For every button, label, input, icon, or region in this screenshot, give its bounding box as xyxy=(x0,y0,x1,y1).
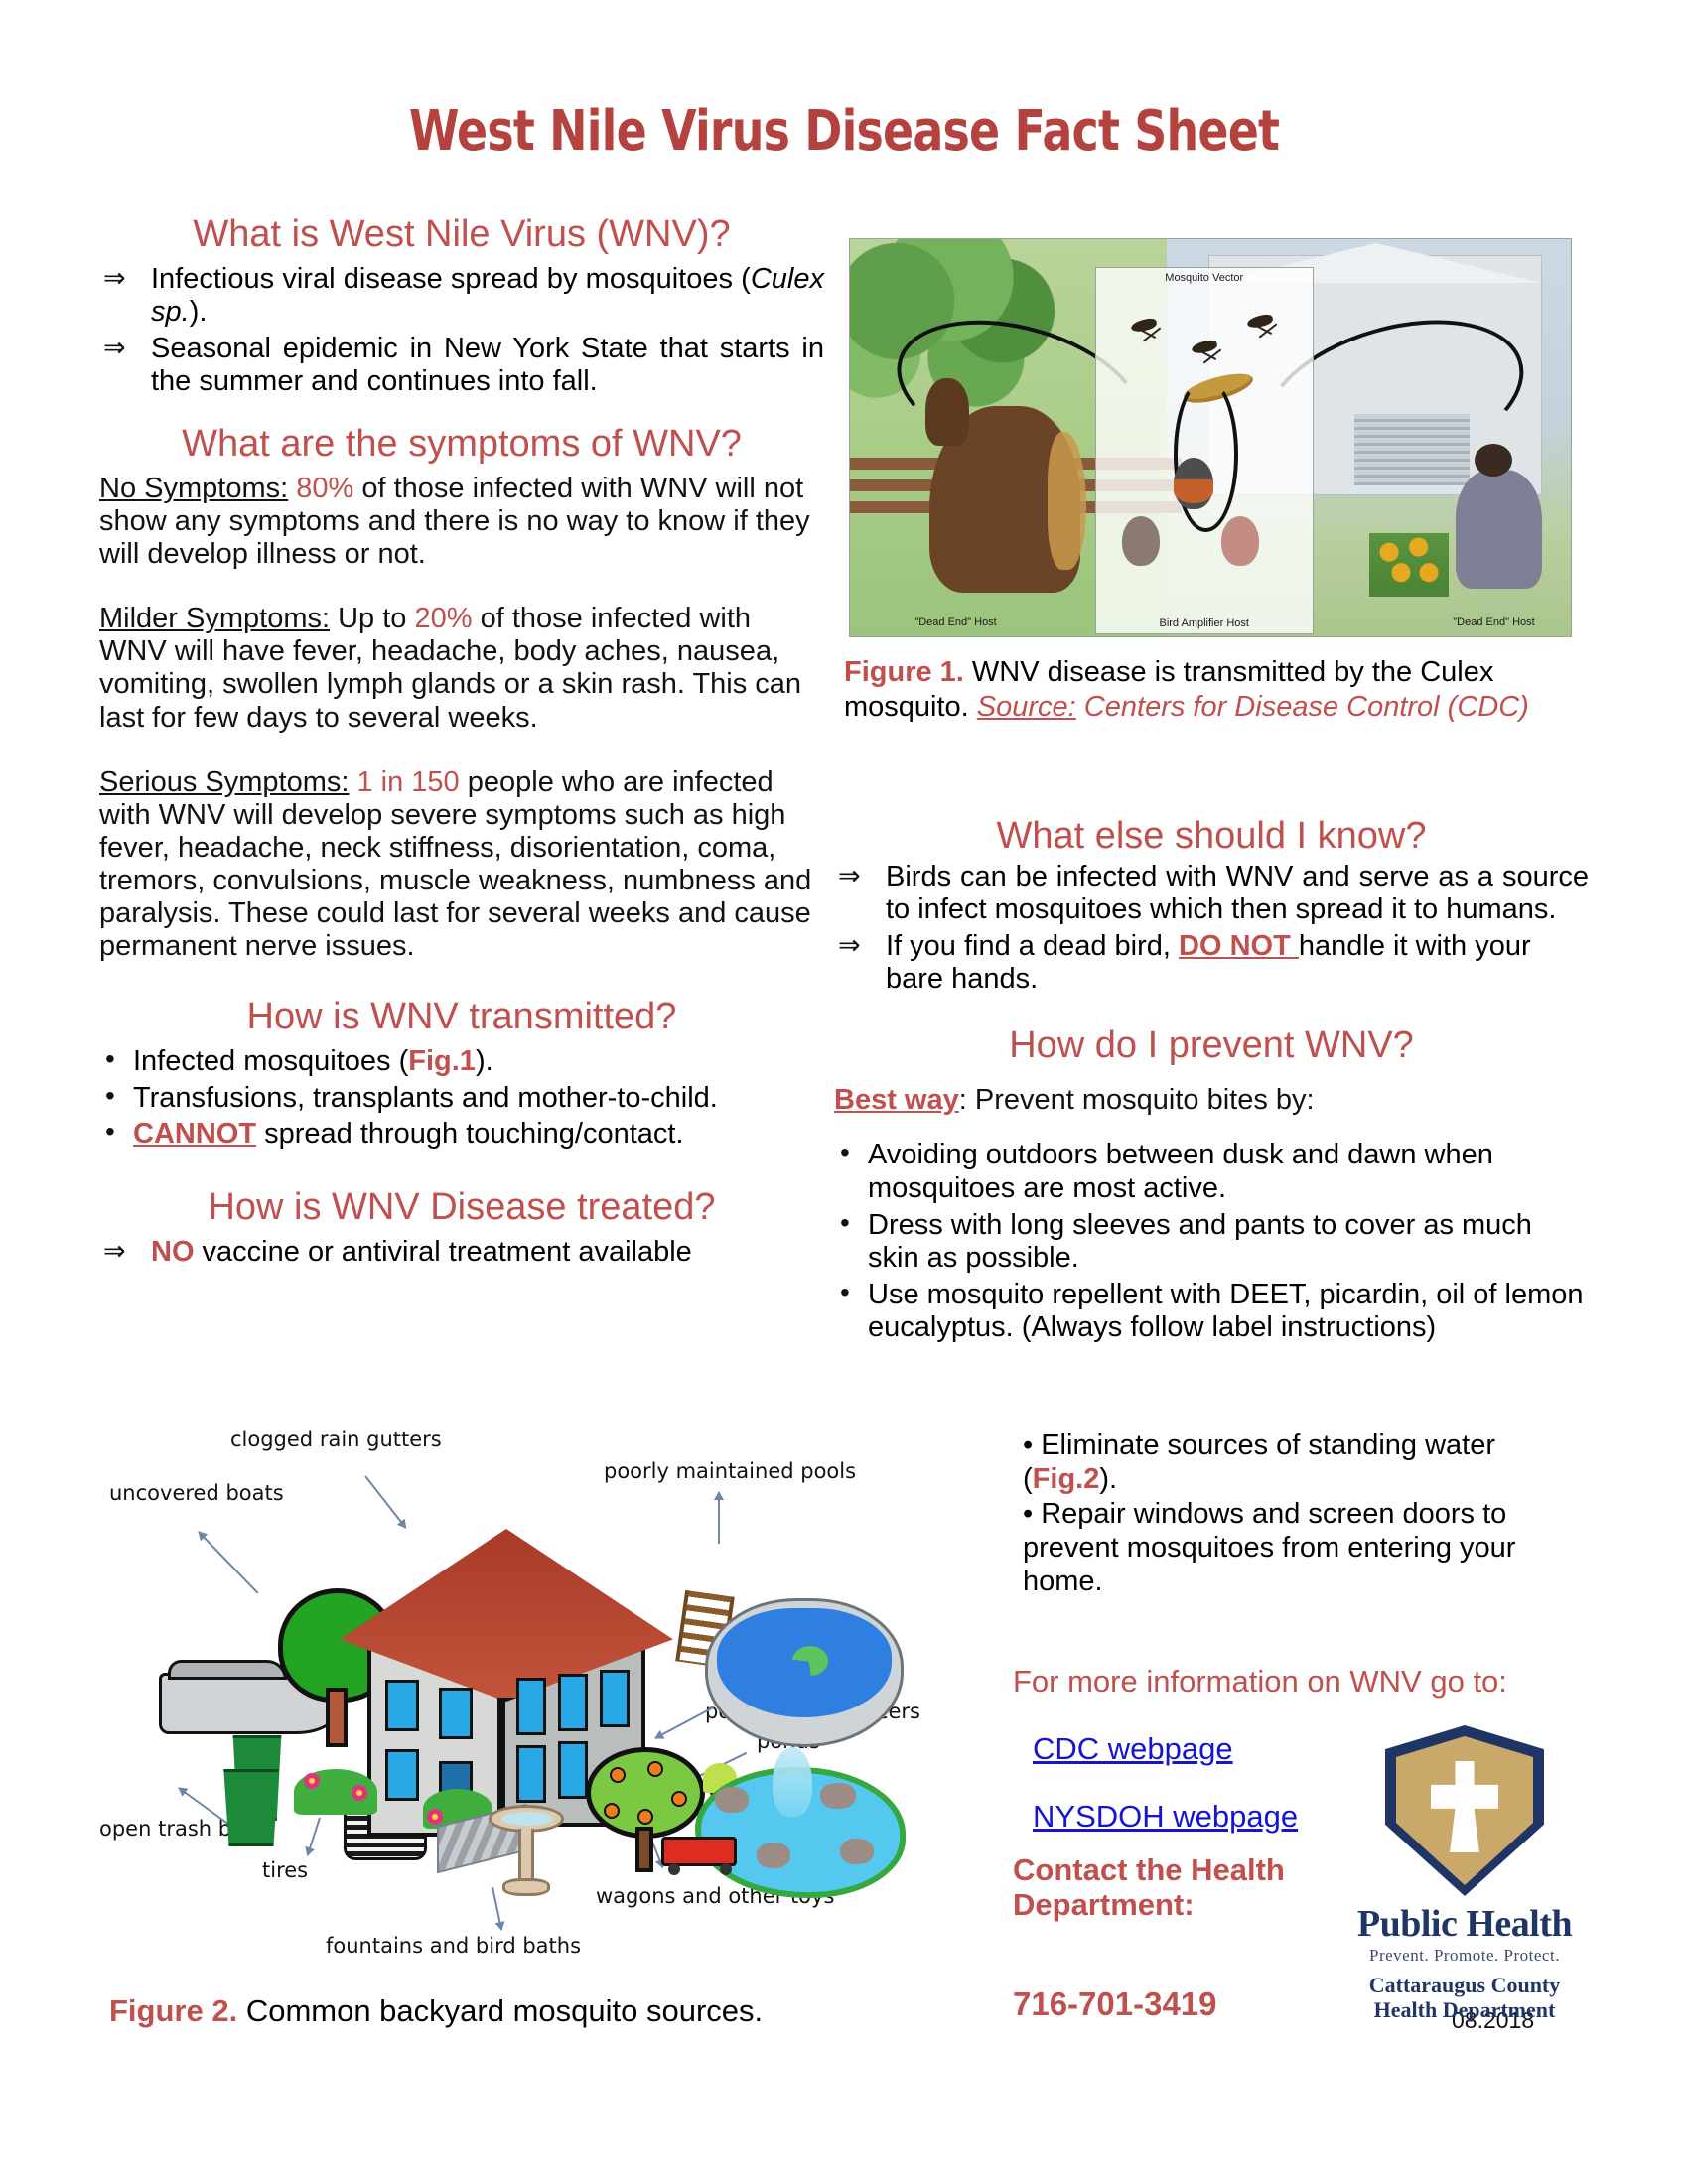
list-item: • Eliminate sources of standing water (F… xyxy=(1023,1430,1579,1496)
bullet-text: Infected mosquitoes ( xyxy=(133,1045,408,1077)
fruit-icon xyxy=(637,1809,653,1825)
figure-1-source-text: Centers for Disease Control (CDC) xyxy=(1076,691,1529,723)
figure-2-caption-text: Common backyard mosquito sources. xyxy=(237,1993,763,2028)
window-icon xyxy=(516,1745,546,1803)
cannot-emphasis: CANNOT xyxy=(133,1118,256,1150)
bullet-text: Seasonal epidemic in New York State that… xyxy=(151,333,824,397)
treatment-bullet-list: NO vaccine or antiviral treatment availa… xyxy=(99,1236,824,1269)
flower-icon xyxy=(352,1785,367,1801)
window-icon xyxy=(558,1674,588,1731)
label-uncovered-boats: uncovered boats xyxy=(109,1481,284,1505)
best-way-label: Best way xyxy=(834,1084,959,1116)
window-icon xyxy=(516,1678,546,1735)
section-heading-prevent: How do I prevent WNV? xyxy=(834,1025,1589,1066)
figure-2-label: Figure 2. xyxy=(109,1993,237,2028)
symptom-serious: Serious Symptoms: 1 in 150 people who ar… xyxy=(99,766,824,963)
finch-bird-icon xyxy=(1221,516,1259,566)
shield-icon xyxy=(1385,1725,1544,1896)
list-item: Transfusions, transplants and mother-to-… xyxy=(99,1082,824,1116)
sunflowers-icon xyxy=(1369,533,1449,597)
sparrow-bird-icon xyxy=(1122,516,1160,566)
figure-2-caption: Figure 2. Common backyard mosquito sourc… xyxy=(109,1993,763,2029)
label-clogged-rain-gutters: clogged rain gutters xyxy=(230,1428,442,1451)
symptom-highlight: 20% xyxy=(414,603,472,634)
figure-reference: Fig.2 xyxy=(1033,1463,1100,1495)
symptom-no-symptoms: No Symptoms: 80% of those infected with … xyxy=(99,473,824,571)
dead-end-host-label-right: "Dead End" Host xyxy=(1453,616,1534,628)
wagon-icon xyxy=(661,1837,737,1866)
transmission-bullet-list: Infected mosquitoes (Fig.1). Transfusion… xyxy=(99,1045,824,1152)
bullet-dot: • xyxy=(1023,1430,1041,1461)
figure1-center-panel: Mosquito Vector Bird Amplifier Host xyxy=(1095,267,1314,634)
prevention-bullet-list: Avoiding outdoors between dusk and dawn … xyxy=(834,1139,1589,1345)
bullet-text-after: ). xyxy=(476,1045,493,1077)
contact-phone[interactable]: 716-701-3419 xyxy=(1013,1985,1217,2023)
what-else-bullet-list: Birds can be infected with WNV and serve… xyxy=(834,861,1589,996)
section-heading-treated: How is WNV Disease treated? xyxy=(99,1187,824,1228)
spacer xyxy=(99,741,824,766)
pool-water xyxy=(717,1608,892,1717)
list-item: Birds can be infected with WNV and serve… xyxy=(834,861,1589,926)
list-item: NO vaccine or antiviral treatment availa… xyxy=(99,1236,824,1269)
contact-heading: Contact the Health Department: xyxy=(1013,1852,1291,1923)
bullet-text-after: spread through touching/contact. xyxy=(256,1118,683,1150)
fruit-icon xyxy=(647,1761,663,1777)
do-not-emphasis: DO NOT xyxy=(1179,930,1299,962)
rock-icon xyxy=(715,1787,749,1813)
gardener-person-icon xyxy=(1456,470,1542,589)
more-information-heading: For more information on WNV go to: xyxy=(1013,1664,1507,1700)
bullet-text: If you find a dead bird, xyxy=(886,930,1179,962)
rock-icon xyxy=(820,1783,856,1809)
label-poorly-maintained-pools: poorly maintained pools xyxy=(604,1459,856,1483)
arrow-gutters xyxy=(364,1475,406,1528)
pool-icon xyxy=(705,1598,904,1747)
window-icon xyxy=(439,1688,473,1739)
window-icon xyxy=(600,1670,630,1727)
list-item: • Repair windows and screen doors to pre… xyxy=(1023,1498,1579,1598)
symptom-label: Serious Symptoms: xyxy=(99,766,349,798)
no-emphasis: NO xyxy=(151,1236,195,1268)
mosquito-vector-label: Mosquito Vector xyxy=(1096,272,1313,284)
transmission-cycle-arrow xyxy=(1174,377,1238,531)
page-title: West Nile Virus Disease Fact Sheet xyxy=(152,99,1536,164)
rock-icon xyxy=(757,1843,790,1868)
figure-1-source-label: Source: xyxy=(977,691,1076,723)
figure-2-image: clogged rain gutters uncovered boats poo… xyxy=(99,1420,993,1956)
bullet-text-after: ). xyxy=(1099,1463,1117,1495)
fruit-icon xyxy=(604,1803,620,1819)
list-item: Use mosquito repellent with DEET, picard… xyxy=(834,1279,1589,1345)
robin-bird-icon xyxy=(1174,458,1213,509)
prevention-continued-block: • Eliminate sources of standing water (F… xyxy=(1023,1430,1579,1598)
logo-tagline: Prevent. Promote. Protect. xyxy=(1340,1946,1589,1966)
flower-icon xyxy=(427,1809,443,1825)
fruit-icon xyxy=(671,1791,687,1807)
tree-trunk xyxy=(326,1688,348,1747)
label-fountains-and-bird-baths: fountains and bird baths xyxy=(326,1934,581,1958)
fruit-icon xyxy=(610,1767,626,1783)
list-item: Seasonal epidemic in New York State that… xyxy=(99,333,824,398)
arrow-pools xyxy=(718,1492,720,1544)
window-icon xyxy=(385,1680,419,1731)
logo-department-line2: Health Department xyxy=(1340,1997,1589,2022)
symptom-highlight: 80% xyxy=(296,473,353,504)
list-item: CANNOT spread through touching/contact. xyxy=(99,1118,824,1152)
left-column: What is West Nile Virus (WNV)? Infectiou… xyxy=(99,214,824,1279)
spacer xyxy=(99,577,824,603)
symptom-milder: Milder Symptoms: Up to 20% of those infe… xyxy=(99,603,824,734)
logo-name: Public Health xyxy=(1340,1902,1589,1946)
list-item: Avoiding outdoors between dusk and dawn … xyxy=(834,1139,1589,1205)
bullet-text: vaccine or antiviral treatment available xyxy=(195,1236,692,1268)
symptom-label: Milder Symptoms: xyxy=(99,603,330,634)
logo-department-line1: Cattaraugus County xyxy=(1340,1973,1589,1997)
figure-1-label: Figure 1. xyxy=(844,656,964,688)
bullet-text: Transfusions, transplants and mother-to-… xyxy=(133,1082,718,1114)
section-heading-what-is: What is West Nile Virus (WNV)? xyxy=(99,214,824,255)
trash-bin-icon xyxy=(218,1769,284,1846)
right-column: What else should I know? Birds can be in… xyxy=(834,816,1589,1355)
link-nysdoh-webpage[interactable]: NYSDOH webpage xyxy=(1033,1799,1298,1835)
bullet-text: Birds can be infected with WNV and serve… xyxy=(886,861,1589,925)
list-item: If you find a dead bird, DO NOT handle i… xyxy=(834,930,1589,996)
symptom-highlight: 1 in 150 xyxy=(356,766,459,798)
flower-icon xyxy=(304,1773,320,1789)
list-item: Infectious viral disease spread by mosqu… xyxy=(99,263,824,329)
bird-bath-base xyxy=(502,1878,550,1896)
section-heading-symptoms: What are the symptoms of WNV? xyxy=(99,424,824,465)
figure-1-image: Mosquito Vector Bird Amplifier Host "Dea… xyxy=(849,238,1572,637)
list-item: Infected mosquitoes (Fig.1). xyxy=(99,1045,824,1079)
fruit-tree-crown xyxy=(586,1747,705,1839)
label-tires: tires xyxy=(262,1858,308,1882)
dead-end-host-label-left: "Dead End" Host xyxy=(914,616,996,628)
logo-department: Cattaraugus County Health Department xyxy=(1340,1973,1589,2023)
fruit-tree-trunk xyxy=(635,1827,653,1872)
bullet-text-after: ). xyxy=(190,296,208,328)
fountain-icon xyxy=(773,1747,812,1817)
list-item: Dress with long sleeves and pants to cov… xyxy=(834,1209,1589,1276)
best-way-line: Best way: Prevent mosquito bites by: xyxy=(834,1084,1589,1117)
figure-1-caption: Figure 1. WNV disease is transmitted by … xyxy=(844,655,1609,725)
public-health-logo: Public Health Prevent. Promote. Protect.… xyxy=(1340,1725,1589,2023)
what-is-bullet-list: Infectious viral disease spread by mosqu… xyxy=(99,263,824,398)
window-icon xyxy=(385,1749,419,1801)
bullet-text: Repair windows and screen doors to preve… xyxy=(1023,1498,1515,1596)
window-icon xyxy=(558,1741,588,1799)
link-cdc-webpage[interactable]: CDC webpage xyxy=(1033,1731,1233,1767)
figure-reference: Fig.1 xyxy=(408,1045,476,1077)
symptom-label: No Symptoms: xyxy=(99,473,288,504)
bird-bath-icon xyxy=(489,1805,564,1900)
section-heading-what-else: What else should I know? xyxy=(834,816,1589,857)
bullet-dot: • xyxy=(1023,1498,1041,1530)
fact-sheet-page: West Nile Virus Disease Fact Sheet What … xyxy=(0,0,1688,2184)
bird-bath-stem xyxy=(518,1829,534,1880)
rock-icon xyxy=(840,1839,874,1864)
symptom-lead: Up to xyxy=(330,603,414,634)
section-heading-transmitted: How is WNV transmitted? xyxy=(99,997,824,1037)
best-way-rest: : Prevent mosquito bites by: xyxy=(959,1084,1315,1116)
arrow-tires xyxy=(307,1818,321,1856)
bullet-text: Infectious viral disease spread by mosqu… xyxy=(151,263,751,295)
arrow-boats xyxy=(198,1531,258,1593)
bird-amplifier-host-label: Bird Amplifier Host xyxy=(1096,617,1313,629)
